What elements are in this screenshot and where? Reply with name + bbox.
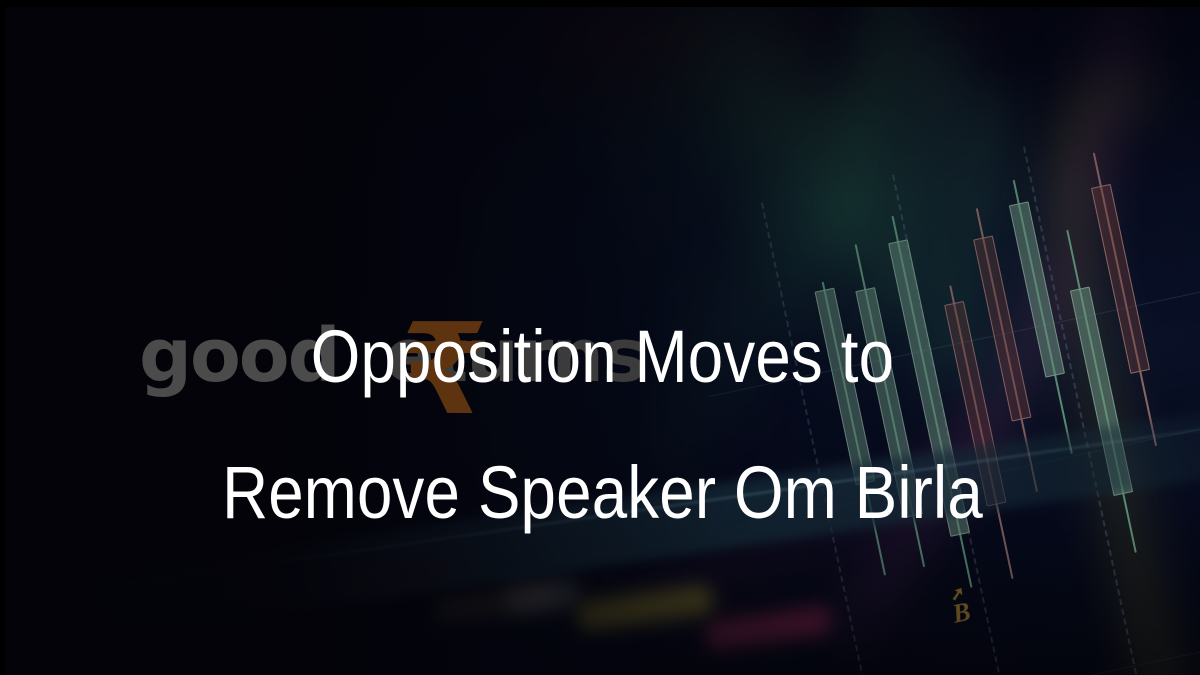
banner-canvas: ➚ B good eturns ₹ Opposition Moves to R (5, 7, 1200, 675)
news-banner-card: ➚ B good eturns ₹ Opposition Moves to R (0, 0, 1200, 675)
headline-line-2: Remove Speaker Om Birla (89, 425, 1117, 561)
headline: Opposition Moves to Remove Speaker Om Bi… (89, 289, 1117, 561)
headline-line-1: Opposition Moves to (89, 289, 1117, 425)
